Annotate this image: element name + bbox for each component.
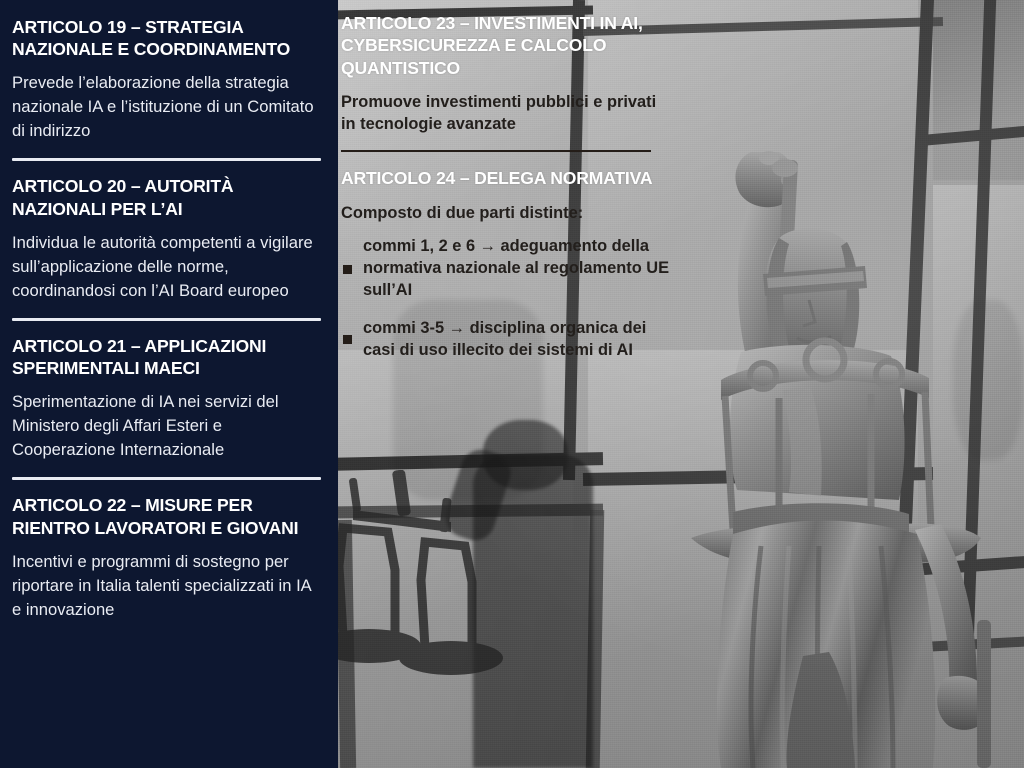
slide-root: ARTICOLO 23 – INVESTIMENTI IN AI, CYBERS… bbox=[0, 0, 1024, 768]
section-articolo-20: ARTICOLO 20 – AUTORITÀ NAZIONALI PER L’A… bbox=[12, 175, 321, 302]
section-articolo-21: ARTICOLO 21 – APPLICAZIONI SPERIMENTALI … bbox=[12, 335, 321, 462]
bullet-text: commi 1, 2 e 6 → adeguamento della norma… bbox=[363, 236, 671, 301]
articolo-24-intro: Composto di due parti distinte: bbox=[341, 202, 671, 224]
left-articles-panel: ARTICOLO 19 – STRATEGIA NAZIONALE E COOR… bbox=[0, 0, 333, 768]
square-bullet-icon bbox=[343, 335, 352, 344]
articolo-24-heading: ARTICOLO 24 – DELEGA NORMATIVA bbox=[341, 167, 671, 189]
list-item: commi 3-5 → disciplina organica dei casi… bbox=[341, 318, 671, 362]
articolo-21-body: Sperimentazione di IA nei servizi del Mi… bbox=[12, 390, 321, 462]
articolo-20-body: Individua le autorità competenti a vigil… bbox=[12, 231, 321, 303]
articolo-22-body: Incentivi e programmi di sostegno per ri… bbox=[12, 550, 321, 622]
articolo-21-heading: ARTICOLO 21 – APPLICAZIONI SPERIMENTALI … bbox=[12, 335, 321, 379]
articolo-19-heading: ARTICOLO 19 – STRATEGIA NAZIONALE E COOR… bbox=[12, 16, 321, 60]
section-articolo-24: ARTICOLO 24 – DELEGA NORMATIVA Composto … bbox=[341, 167, 671, 362]
articolo-22-heading: ARTICOLO 22 – MISURE PER RIENTRO LAVORAT… bbox=[12, 494, 321, 538]
articolo-19-body: Prevede l’elaborazione della strategia n… bbox=[12, 71, 321, 143]
section-articolo-22: ARTICOLO 22 – MISURE PER RIENTRO LAVORAT… bbox=[12, 494, 321, 621]
articolo-24-bullet-list: commi 1, 2 e 6 → adeguamento della norma… bbox=[341, 236, 671, 361]
section-articolo-19: ARTICOLO 19 – STRATEGIA NAZIONALE E COOR… bbox=[12, 16, 321, 143]
right-text-overlay: ARTICOLO 23 – INVESTIMENTI IN AI, CYBERS… bbox=[341, 12, 671, 377]
list-item: commi 1, 2 e 6 → adeguamento della norma… bbox=[341, 236, 671, 301]
panel-edge-sliver bbox=[333, 0, 338, 768]
articolo-20-heading: ARTICOLO 20 – AUTORITÀ NAZIONALI PER L’A… bbox=[12, 175, 321, 219]
square-bullet-icon bbox=[343, 265, 352, 274]
right-section-divider bbox=[341, 150, 651, 152]
articolo-23-body: Promuove investimenti pubblici e privati… bbox=[341, 91, 671, 136]
articolo-23-heading: ARTICOLO 23 – INVESTIMENTI IN AI, CYBERS… bbox=[341, 12, 671, 79]
section-articolo-23: ARTICOLO 23 – INVESTIMENTI IN AI, CYBERS… bbox=[341, 12, 671, 136]
bullet-text: commi 3-5 → disciplina organica dei casi… bbox=[363, 318, 671, 362]
left-section-divider bbox=[12, 318, 321, 321]
left-section-divider bbox=[12, 158, 321, 161]
left-section-divider bbox=[12, 477, 321, 480]
